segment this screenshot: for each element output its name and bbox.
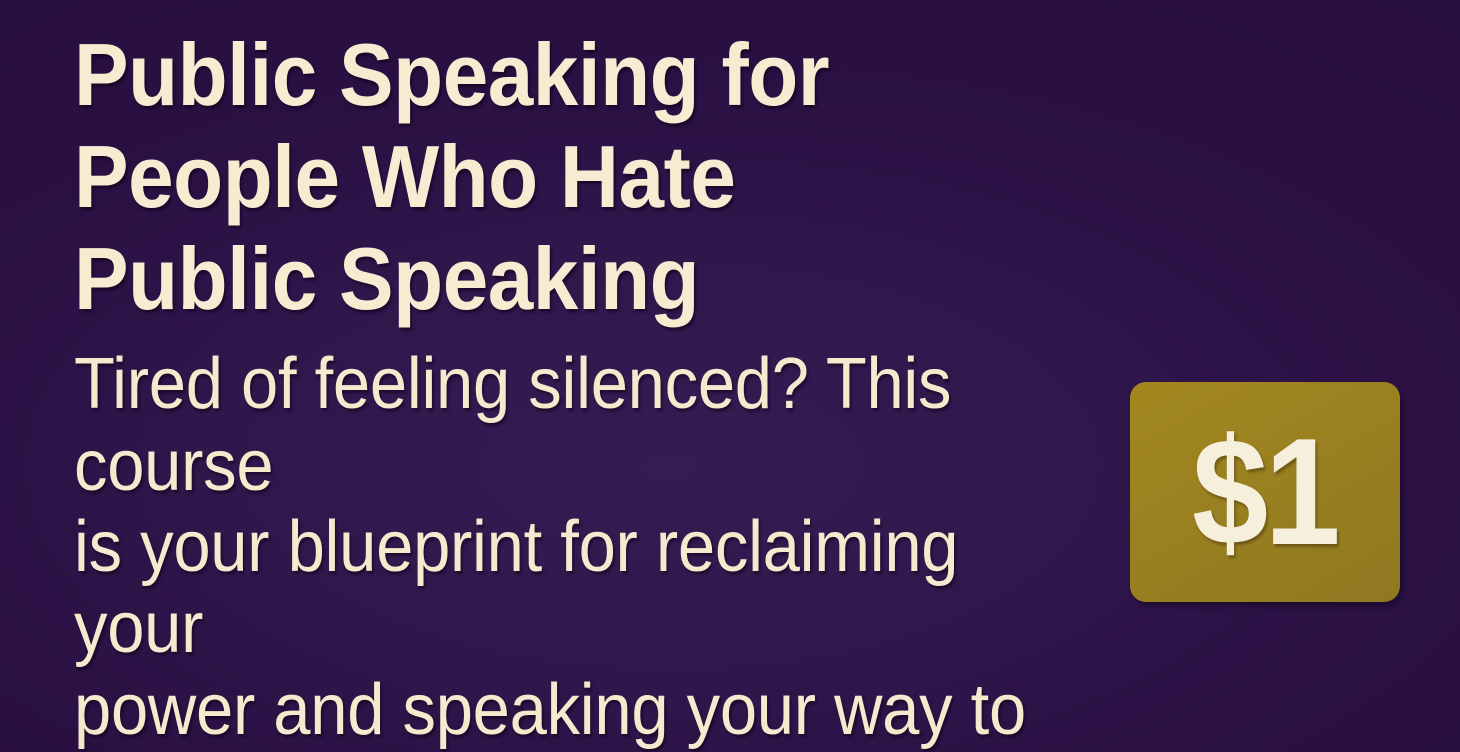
promo-banner: Public Speaking for People Who Hate Publ… [0,0,1460,752]
price-badge[interactable]: $1 [1130,382,1400,602]
price-badge-amount: $1 [1193,416,1338,568]
banner-subtitle: Tired of feeling silenced? This course i… [74,330,1032,752]
banner-text-column: Public Speaking for People Who Hate Publ… [74,24,1104,752]
page-title: Public Speaking for People Who Hate Publ… [74,24,1032,330]
